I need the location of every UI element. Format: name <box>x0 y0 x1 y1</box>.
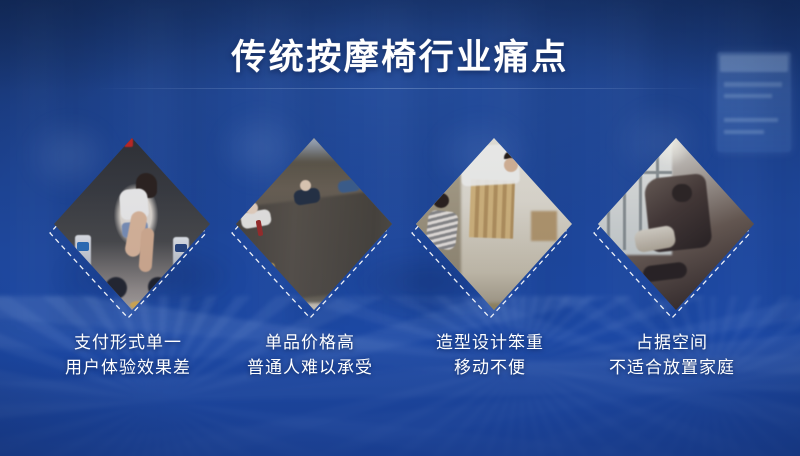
title-divider <box>96 88 704 89</box>
caption-line-1: 占据空间 <box>557 330 787 355</box>
caption-line-2: 不适合放置家庭 <box>557 355 787 380</box>
poster-canvas: 传统按摩椅行业痛点 <box>0 0 800 456</box>
page-title: 传统按摩椅行业痛点 <box>0 36 800 80</box>
pain-point-caption: 占据空间 不适合放置家庭 <box>557 330 787 380</box>
